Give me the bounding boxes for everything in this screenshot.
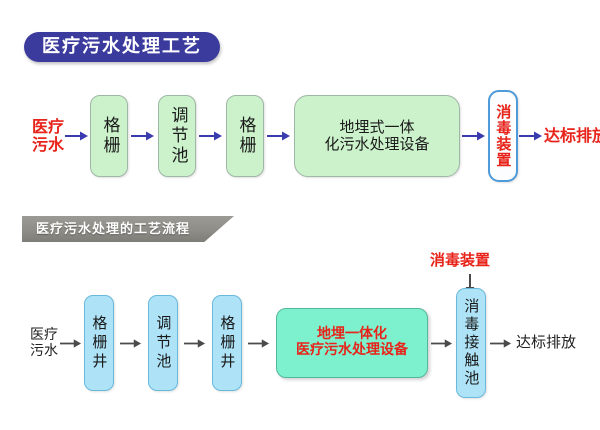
section2-flow-row: 医疗 污水 格栅井 调节池 格栅井 地埋一体化 医疗污水处理设备 消毒接触池 xyxy=(30,288,576,398)
section2-title-banner: 医疗污水处理的工艺流程 xyxy=(22,216,234,242)
arrow-right-icon xyxy=(114,337,148,350)
arrow-right-icon xyxy=(196,129,226,143)
node-regulating-tank-1: 调节池 xyxy=(158,95,196,177)
node-grating-well-2: 格栅井 xyxy=(212,295,242,391)
node-grating-2: 格栅 xyxy=(226,95,264,177)
node-buried-integrated-equipment-2: 地埋一体化 医疗污水处理设备 xyxy=(276,308,428,378)
section2-title-text: 医疗污水处理的工艺流程 xyxy=(36,223,190,236)
arrow-right-icon xyxy=(242,337,276,350)
arrow-right-icon xyxy=(178,337,212,350)
node-buried-integrated-equipment-1: 地埋式一体 化污水处理设备 xyxy=(294,95,460,177)
arrow-right-icon xyxy=(460,129,488,143)
section1-title-banner: 医疗污水处理工艺 xyxy=(24,32,220,62)
section1-title-text: 医疗污水处理工艺 xyxy=(42,38,202,56)
arrow-right-icon xyxy=(128,129,158,143)
arrow-right-icon xyxy=(64,129,90,143)
arrow-right-icon xyxy=(58,337,84,350)
arrow-right-icon xyxy=(518,129,544,143)
section2-callout-label: 消毒装置 xyxy=(430,252,490,269)
diagram-canvas: 医疗污水处理工艺 医疗 污水 格栅 调节池 格栅 地埋式一体 化污水处理设备 xyxy=(0,0,600,430)
section1-input-label: 医疗 污水 xyxy=(32,118,64,155)
arrow-right-icon xyxy=(486,337,516,350)
node-grating-1: 格栅 xyxy=(90,95,128,177)
arrow-right-icon xyxy=(264,129,294,143)
section2-input-label: 医疗 污水 xyxy=(30,327,58,359)
node-grating-well-1: 格栅井 xyxy=(84,295,114,391)
arrow-right-icon xyxy=(428,337,456,350)
section1-output-label: 达标排放 xyxy=(544,127,600,145)
section2-output-label: 达标排放 xyxy=(516,334,576,351)
node-disinfection-contact-tank: 消毒接触池 xyxy=(456,288,486,398)
node-regulating-tank-2: 调节池 xyxy=(148,295,178,391)
node-disinfection-device-1: 消毒装置 xyxy=(488,90,518,182)
section1-flow-row: 医疗 污水 格栅 调节池 格栅 地埋式一体 化污水处理设备 消毒装置 xyxy=(32,90,600,182)
